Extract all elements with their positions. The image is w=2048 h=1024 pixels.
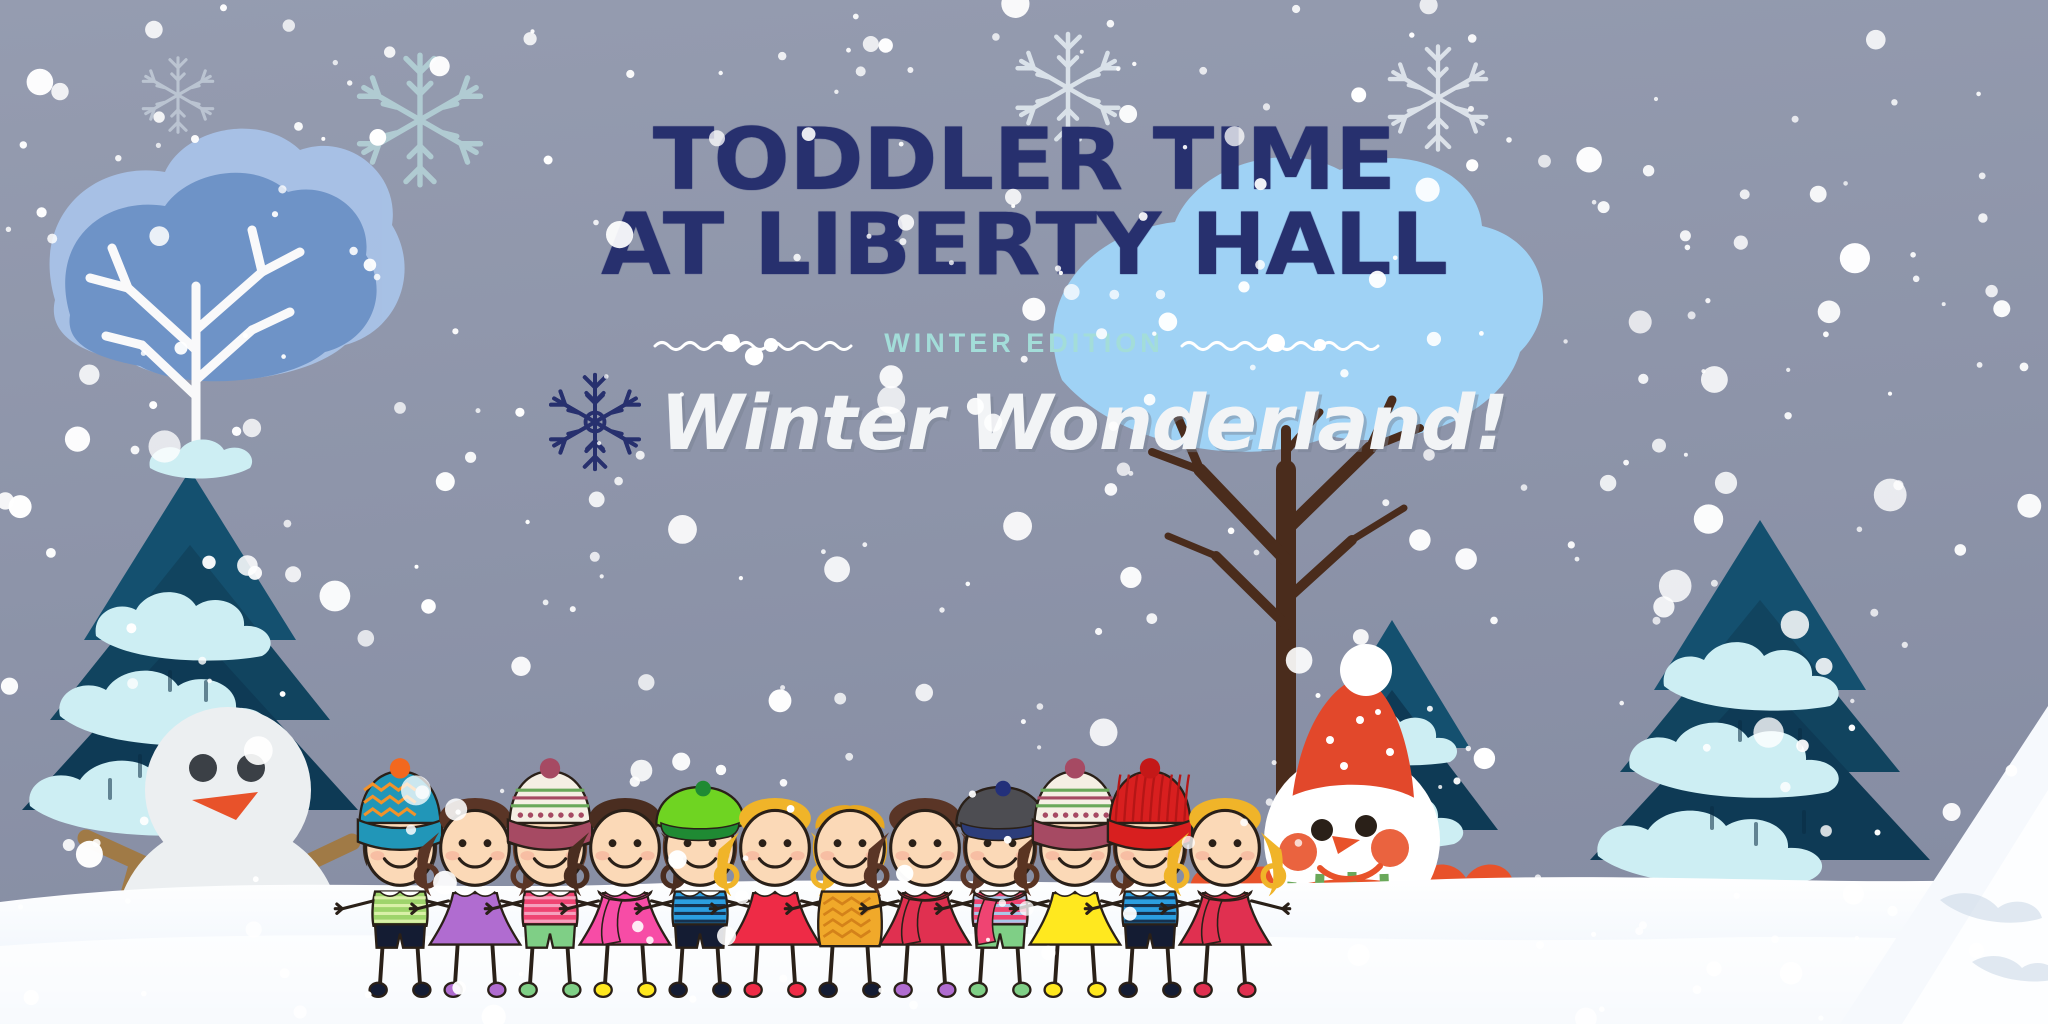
snow-dot xyxy=(1238,281,1249,292)
snow-dot xyxy=(436,472,455,491)
snow-dot xyxy=(1037,745,1041,749)
snow-dot xyxy=(636,451,645,460)
snow-dot xyxy=(1011,204,1015,208)
snow-dot xyxy=(1784,412,1791,419)
snow-dot xyxy=(1416,178,1440,202)
snow-dot xyxy=(519,972,523,976)
snow-dot xyxy=(283,19,295,31)
snow-dot xyxy=(1701,366,1728,393)
snow-dot xyxy=(1810,186,1827,203)
snow-dot xyxy=(1490,617,1498,625)
snow-dot xyxy=(1781,611,1809,639)
snow-dot xyxy=(1001,0,1029,18)
snow-dot xyxy=(1382,499,1389,506)
snow-dot xyxy=(415,785,429,799)
snow-dot xyxy=(862,542,867,547)
snow-dot xyxy=(358,630,375,647)
snow-dot xyxy=(1199,67,1207,75)
snow-dot xyxy=(1479,331,1484,336)
snow-dot xyxy=(1734,893,1740,899)
snow-dot xyxy=(1536,941,1544,949)
snow-dot xyxy=(1976,92,1981,97)
snow-dot xyxy=(743,855,749,861)
snow-dot xyxy=(1870,609,1878,617)
snow-dot xyxy=(1942,302,1946,306)
snow-dot xyxy=(1353,629,1369,645)
snow-dot xyxy=(898,214,914,230)
snow-dot xyxy=(1619,701,1624,706)
snow-dot xyxy=(1600,475,1616,491)
snow-dot xyxy=(1144,394,1156,406)
snow-dot xyxy=(1255,178,1267,190)
snow-dot xyxy=(321,137,325,141)
snow-dot xyxy=(18,904,23,909)
snow-dot xyxy=(668,850,687,869)
snow-dot xyxy=(525,520,529,524)
snow-dot xyxy=(237,555,258,576)
snow-dot xyxy=(769,689,792,712)
snow-dot xyxy=(278,185,286,193)
snow-dot xyxy=(220,4,227,11)
snow-dot xyxy=(597,441,601,445)
snow-dot xyxy=(1969,943,1984,958)
snow-dot xyxy=(1680,230,1691,241)
snow-dot xyxy=(1095,628,1102,635)
snow-dot xyxy=(1420,0,1438,14)
snow-dot xyxy=(1849,725,1856,732)
snow-dot xyxy=(1796,740,1809,753)
snow-dot xyxy=(1563,339,1567,343)
snow-dot xyxy=(824,556,850,582)
snow-dot xyxy=(415,565,419,569)
snow-dot xyxy=(530,29,534,33)
snow-dot xyxy=(51,83,68,100)
snow-dot xyxy=(1120,567,1141,588)
snow-dot xyxy=(1693,985,1702,994)
snow-dot xyxy=(1855,936,1859,940)
snow-dot xyxy=(1639,921,1647,929)
snow-dot xyxy=(191,135,199,143)
snow-dot xyxy=(1506,137,1512,143)
snow-dot xyxy=(1004,836,1012,844)
snow-dot xyxy=(739,576,743,580)
snow-dot xyxy=(1910,252,1916,258)
snow-dot xyxy=(131,446,140,455)
snow-dot xyxy=(364,259,377,272)
snow-dot xyxy=(1740,189,1750,199)
snow-dot xyxy=(384,46,395,57)
snow-dot xyxy=(349,247,357,255)
snow-dot xyxy=(1021,356,1028,363)
snow-dot xyxy=(1753,717,1783,747)
snow-dot xyxy=(1438,785,1442,789)
snow-dot xyxy=(207,679,212,684)
snow-dot xyxy=(1292,5,1300,13)
snow-dot xyxy=(1888,392,1892,396)
snow-dot xyxy=(1685,245,1691,251)
snow-dot xyxy=(1816,658,1833,675)
snow-dot xyxy=(793,254,800,261)
snow-dot xyxy=(907,67,913,73)
snow-dot xyxy=(626,70,634,78)
snow-dot xyxy=(1295,839,1303,847)
snow-dot xyxy=(668,515,697,544)
snow-dot xyxy=(47,234,57,244)
snow-dot xyxy=(1228,528,1235,535)
snow-dot xyxy=(878,988,883,993)
snow-dot xyxy=(1771,935,1779,943)
snow-dot xyxy=(1156,290,1165,299)
snow-dot xyxy=(1843,883,1864,904)
snow-dot xyxy=(65,427,90,452)
snow-dot xyxy=(1653,596,1674,617)
snow-dot xyxy=(1186,989,1190,993)
snow-dot xyxy=(1270,805,1284,819)
snow-dot xyxy=(79,365,99,385)
snow-dot xyxy=(126,623,136,633)
snow-dot xyxy=(1786,368,1790,372)
snow-dot xyxy=(202,556,215,569)
snow-dot xyxy=(2006,765,2018,777)
snow-dot xyxy=(1263,103,1270,110)
snow-dot xyxy=(880,365,903,388)
snow-dot xyxy=(1409,529,1430,550)
snow-dot xyxy=(1734,236,1748,250)
snow-dot xyxy=(92,839,100,847)
snow-dot xyxy=(589,492,605,508)
snow-dot xyxy=(285,566,301,582)
snow-dot xyxy=(853,14,859,20)
snow-dot xyxy=(272,211,278,217)
snow-dot xyxy=(1521,484,1528,491)
snow-dot xyxy=(1041,946,1055,960)
snow-dot xyxy=(1316,693,1321,698)
snow-dot xyxy=(1351,87,1366,102)
snow-dot xyxy=(632,921,643,932)
snow-dot xyxy=(1183,145,1187,149)
snow-dot xyxy=(141,351,146,356)
snow-dot xyxy=(1874,479,1907,512)
snow-dot xyxy=(46,548,56,558)
snow-dot xyxy=(6,227,11,232)
snow-dot xyxy=(1840,243,1870,273)
snow-dot xyxy=(9,495,32,518)
snow-dot xyxy=(333,60,338,65)
snow-dot xyxy=(320,581,351,612)
snow-dot xyxy=(406,825,416,835)
snow-dot xyxy=(1453,777,1460,784)
snow-dot xyxy=(590,552,600,562)
snow-dot xyxy=(374,274,381,281)
snow-dot xyxy=(243,419,261,437)
snow-dot xyxy=(735,890,749,904)
snow-dot xyxy=(1943,803,1961,821)
snow-dot xyxy=(1019,901,1034,916)
snow-dot xyxy=(1240,819,1248,827)
snow-dot xyxy=(1105,483,1118,496)
snow-dot xyxy=(465,452,476,463)
snow-dot xyxy=(1592,200,1597,205)
snow-dot xyxy=(544,156,553,165)
snow-dot xyxy=(1255,260,1265,270)
snow-dot xyxy=(638,674,654,690)
snow-dot xyxy=(1,678,18,695)
snow-dot xyxy=(294,1005,307,1018)
snow-dot xyxy=(1182,836,1195,849)
snow-dot xyxy=(856,66,866,76)
snow-dot xyxy=(778,52,786,60)
snow-dot xyxy=(1109,290,1119,300)
snow-dot xyxy=(1780,962,1803,985)
snow-dot xyxy=(1455,548,1477,570)
snow-dot xyxy=(1978,213,1987,222)
snow-dot xyxy=(244,736,273,765)
snow-dot xyxy=(1005,189,1021,205)
snow-dot xyxy=(141,991,147,997)
snow-dot xyxy=(604,374,609,379)
snow-dot xyxy=(1080,50,1084,54)
snow-dot xyxy=(175,342,188,355)
snow-dot xyxy=(1653,617,1661,625)
snow-dot xyxy=(149,226,169,246)
snow-dot xyxy=(593,220,599,226)
snow-dot xyxy=(949,260,954,265)
snow-dot xyxy=(511,657,530,676)
snow-dot xyxy=(1132,62,1136,66)
snow-dot xyxy=(779,975,787,983)
snow-dot xyxy=(365,991,372,998)
snow-dot xyxy=(284,520,292,528)
snow-dot xyxy=(1409,32,1414,37)
snow-dot xyxy=(421,599,436,614)
snow-dot xyxy=(1599,1006,1605,1012)
snow-dot xyxy=(1568,541,1575,548)
snow-dot xyxy=(999,899,1007,907)
snow-dot xyxy=(1423,449,1435,461)
snow-dot xyxy=(1109,421,1119,431)
snow-dot xyxy=(1575,1008,1597,1024)
snow-dot xyxy=(127,678,138,689)
snow-dot xyxy=(543,600,549,606)
snow-dot xyxy=(915,684,933,702)
snow-dot xyxy=(1866,30,1886,50)
snow-dot xyxy=(1843,181,1848,186)
snow-dot xyxy=(877,386,905,414)
snow-dot xyxy=(2017,494,2041,518)
snow-dot xyxy=(37,207,47,217)
snow-dot xyxy=(1780,782,1790,792)
snow-dot xyxy=(834,90,838,94)
snow-dot xyxy=(280,968,290,978)
snow-dot xyxy=(482,1005,506,1024)
snow-dot xyxy=(606,221,633,248)
snow-dot xyxy=(1688,311,1696,319)
snow-dot xyxy=(1591,932,1596,937)
snow-dot xyxy=(1977,362,1983,368)
snow-dot xyxy=(672,753,690,771)
snow-dot xyxy=(1684,453,1688,457)
snow-dot xyxy=(717,926,736,945)
snow-dot xyxy=(1064,284,1080,300)
snow-dot xyxy=(20,141,27,148)
snow-dot xyxy=(1468,34,1477,43)
snow-dot xyxy=(1393,255,1398,260)
snow-dot xyxy=(986,938,990,942)
snow-dot xyxy=(115,155,121,161)
snow-dot xyxy=(1711,580,1718,587)
snow-dot xyxy=(1022,298,1045,321)
snow-dot xyxy=(2020,363,2029,372)
snow-dot xyxy=(500,789,504,793)
snow-dot xyxy=(294,122,303,131)
snow-dot xyxy=(680,392,684,396)
snow-dot xyxy=(1427,706,1433,712)
snow-dot xyxy=(1575,557,1580,562)
snow-dot xyxy=(1913,276,1920,283)
snow-dot xyxy=(394,402,406,414)
snow-dot xyxy=(1820,825,1832,837)
snow-dot xyxy=(600,574,604,578)
snow-dot xyxy=(1037,703,1044,710)
snow-dot xyxy=(969,791,976,798)
snow-dot xyxy=(909,1001,918,1010)
snow-dot xyxy=(1792,116,1799,123)
snow-dot xyxy=(1427,332,1441,346)
snow-dot xyxy=(198,657,206,665)
snow-dot xyxy=(125,898,131,904)
snow-dot xyxy=(1706,961,1721,976)
snow-dot xyxy=(27,69,54,96)
snow-dot xyxy=(1891,99,1897,105)
snow-dot xyxy=(975,889,979,893)
snow-dot xyxy=(1474,748,1495,769)
snow-dot xyxy=(867,234,872,239)
snow-dot xyxy=(281,354,286,359)
snow-dot xyxy=(1703,744,1711,752)
snow-dot xyxy=(430,56,450,76)
snow-dot xyxy=(992,33,1000,41)
snow-dot xyxy=(1715,472,1737,494)
snow-dot xyxy=(1107,20,1115,28)
snow-dot xyxy=(280,691,286,697)
snow-dot xyxy=(939,607,944,612)
snow-dot xyxy=(630,777,640,787)
snow-dot xyxy=(445,798,467,820)
snow-dot xyxy=(1466,159,1478,171)
winter-event-banner: TODDLER TIME AT LIBERTY HALL WINTER EDIT… xyxy=(0,0,2048,1024)
snow-dot xyxy=(899,142,904,147)
snow-dot xyxy=(899,238,906,245)
snow-dot xyxy=(433,871,457,895)
snow-dot xyxy=(253,876,259,882)
snow-dot xyxy=(246,921,262,937)
snow-dot xyxy=(846,48,851,53)
snow-dot xyxy=(347,80,352,85)
snow-dot xyxy=(716,765,726,775)
snow-dot xyxy=(1538,155,1551,168)
snow-dot xyxy=(896,865,913,882)
snow-dot xyxy=(984,414,1002,432)
snow-dot xyxy=(966,582,971,587)
snow-dot xyxy=(1116,67,1120,71)
snow-dot xyxy=(1887,906,1897,916)
snow-dot xyxy=(1466,746,1471,751)
snow-dot xyxy=(1535,874,1541,880)
snow-dot xyxy=(879,38,893,52)
snow-dot xyxy=(140,817,149,826)
snow-dot xyxy=(1993,300,2010,317)
snow-dot xyxy=(689,995,696,1002)
snow-dot xyxy=(63,839,75,851)
snow-dot xyxy=(149,401,157,409)
snow-dot xyxy=(1818,301,1841,324)
snow-dot xyxy=(709,130,725,146)
snow-dot xyxy=(1286,647,1313,674)
snow-dot xyxy=(1694,504,1723,533)
snow-dot xyxy=(1340,369,1348,377)
snow-dot xyxy=(1266,798,1273,805)
snow-dot xyxy=(1003,512,1032,541)
snow-dot xyxy=(153,111,164,122)
snow-dot xyxy=(1468,106,1474,112)
snow-dot xyxy=(1598,201,1610,213)
snow-dot xyxy=(145,21,163,39)
snow-dot xyxy=(1654,97,1658,101)
snow-dot xyxy=(515,408,524,417)
snow-dot xyxy=(1823,331,1829,337)
snow-dot xyxy=(1123,907,1137,921)
snow-dot xyxy=(1139,212,1148,221)
snow-dot xyxy=(1902,642,1908,648)
snow-dot xyxy=(570,606,576,612)
snow-dot xyxy=(1055,265,1061,271)
snow-dot xyxy=(845,753,853,761)
snow-dot xyxy=(1818,1015,1823,1020)
snow-dot xyxy=(1576,147,1602,173)
snow-dot xyxy=(156,143,161,148)
snow-dot xyxy=(524,32,537,45)
snow-dot xyxy=(780,779,788,787)
snow-dot xyxy=(1850,699,1854,703)
snow-dot xyxy=(1021,719,1026,724)
snow-dot xyxy=(1146,613,1157,624)
snow-dot xyxy=(646,936,654,944)
snow-dot xyxy=(614,477,623,486)
snow-dot xyxy=(232,427,241,436)
snow-dot xyxy=(1857,527,1863,533)
snow-dot xyxy=(834,693,846,705)
snow-dot xyxy=(243,333,248,338)
snow-dot xyxy=(1250,365,1256,371)
snow-dot xyxy=(24,990,39,1005)
snow-dot xyxy=(1117,463,1130,476)
snow-dot xyxy=(1225,126,1245,146)
snow-dot xyxy=(1152,332,1156,336)
snow-dot xyxy=(787,805,795,813)
snow-dot xyxy=(149,430,181,462)
snow-dot xyxy=(369,129,386,146)
snow-dot xyxy=(1629,311,1652,334)
snow-dot xyxy=(719,71,723,75)
snow-dot xyxy=(452,328,458,334)
snow-dot xyxy=(1369,271,1386,288)
snow-dot xyxy=(1979,173,1986,180)
snow-dot xyxy=(1985,285,1997,297)
snow-dot xyxy=(780,685,785,690)
snow-dot xyxy=(455,809,460,814)
snow-dot xyxy=(1059,271,1063,275)
snow-dot xyxy=(967,398,984,415)
